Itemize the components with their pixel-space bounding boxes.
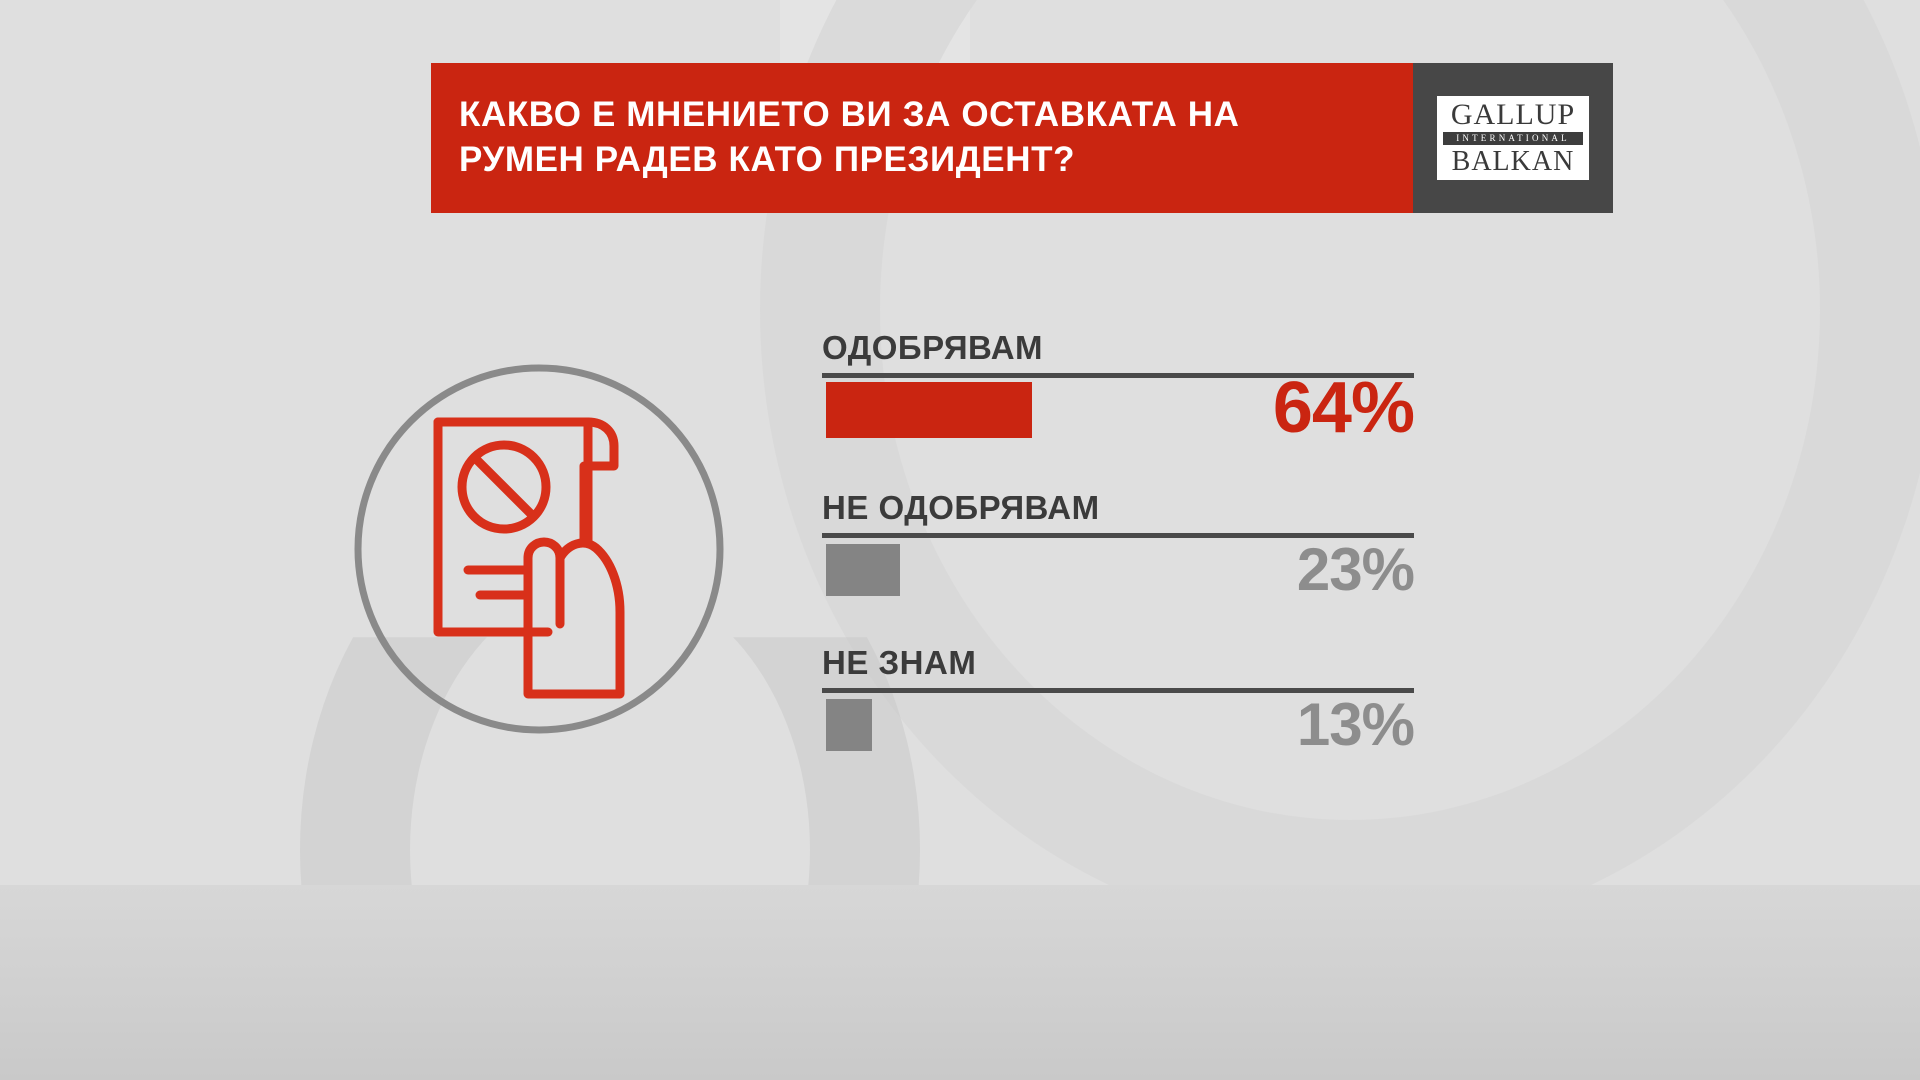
result-row-approve: ОДОБРЯВАМ 64% — [822, 330, 1414, 460]
result-bar — [826, 699, 872, 751]
page-title-line-1: КАКВО Е МНЕНИЕТО ВИ ЗА ОСТАВКАТА НА — [459, 93, 1240, 138]
infographic-stage: КАКВО Е МНЕНИЕТО ВИ ЗА ОСТАВКАТА НА РУМЕ… — [0, 0, 1920, 1080]
result-row-disapprove: НЕ ОДОБРЯВАМ 23% — [822, 490, 1414, 620]
result-body: 64% — [822, 378, 1414, 460]
result-bar — [826, 544, 900, 596]
gallup-international-balkan-logo: GALLUP INTERNATIONAL BALKAN — [1437, 96, 1589, 179]
result-body: 13% — [822, 693, 1414, 775]
result-body: 23% — [822, 538, 1414, 620]
logo-panel: GALLUP INTERNATIONAL BALKAN — [1413, 63, 1613, 213]
header-title-bar: КАКВО Е МНЕНИЕТО ВИ ЗА ОСТАВКАТА НА РУМЕ… — [431, 63, 1413, 213]
logo-text-gallup: GALLUP — [1437, 100, 1589, 130]
result-value: 13% — [1297, 695, 1414, 755]
results-list: ОДОБРЯВАМ 64% НЕ ОДОБРЯВАМ 23% НЕ ЗНАМ 1… — [822, 330, 1414, 775]
page-title: КАКВО Е МНЕНИЕТО ВИ ЗА ОСТАВКАТА НА РУМЕ… — [459, 93, 1240, 183]
result-value: 23% — [1297, 540, 1414, 600]
result-value: 64% — [1273, 372, 1414, 444]
page-title-line-2: РУМЕН РАДЕВ КАТО ПРЕЗИДЕНТ? — [459, 138, 1240, 183]
logo-text-balkan: BALKAN — [1437, 147, 1589, 176]
result-row-dontknow: НЕ ЗНАМ 13% — [822, 645, 1414, 775]
result-label: НЕ ЗНАМ — [822, 645, 1414, 682]
result-label: ОДОБРЯВАМ — [822, 330, 1414, 367]
background-floor-band — [0, 885, 1920, 1080]
result-label: НЕ ОДОБРЯВАМ — [822, 490, 1414, 527]
header: КАКВО Е МНЕНИЕТО ВИ ЗА ОСТАВКАТА НА РУМЕ… — [431, 63, 1613, 213]
logo-text-international: INTERNATIONAL — [1443, 132, 1583, 145]
resignation-document-icon — [352, 362, 726, 736]
result-bar — [826, 382, 1032, 438]
